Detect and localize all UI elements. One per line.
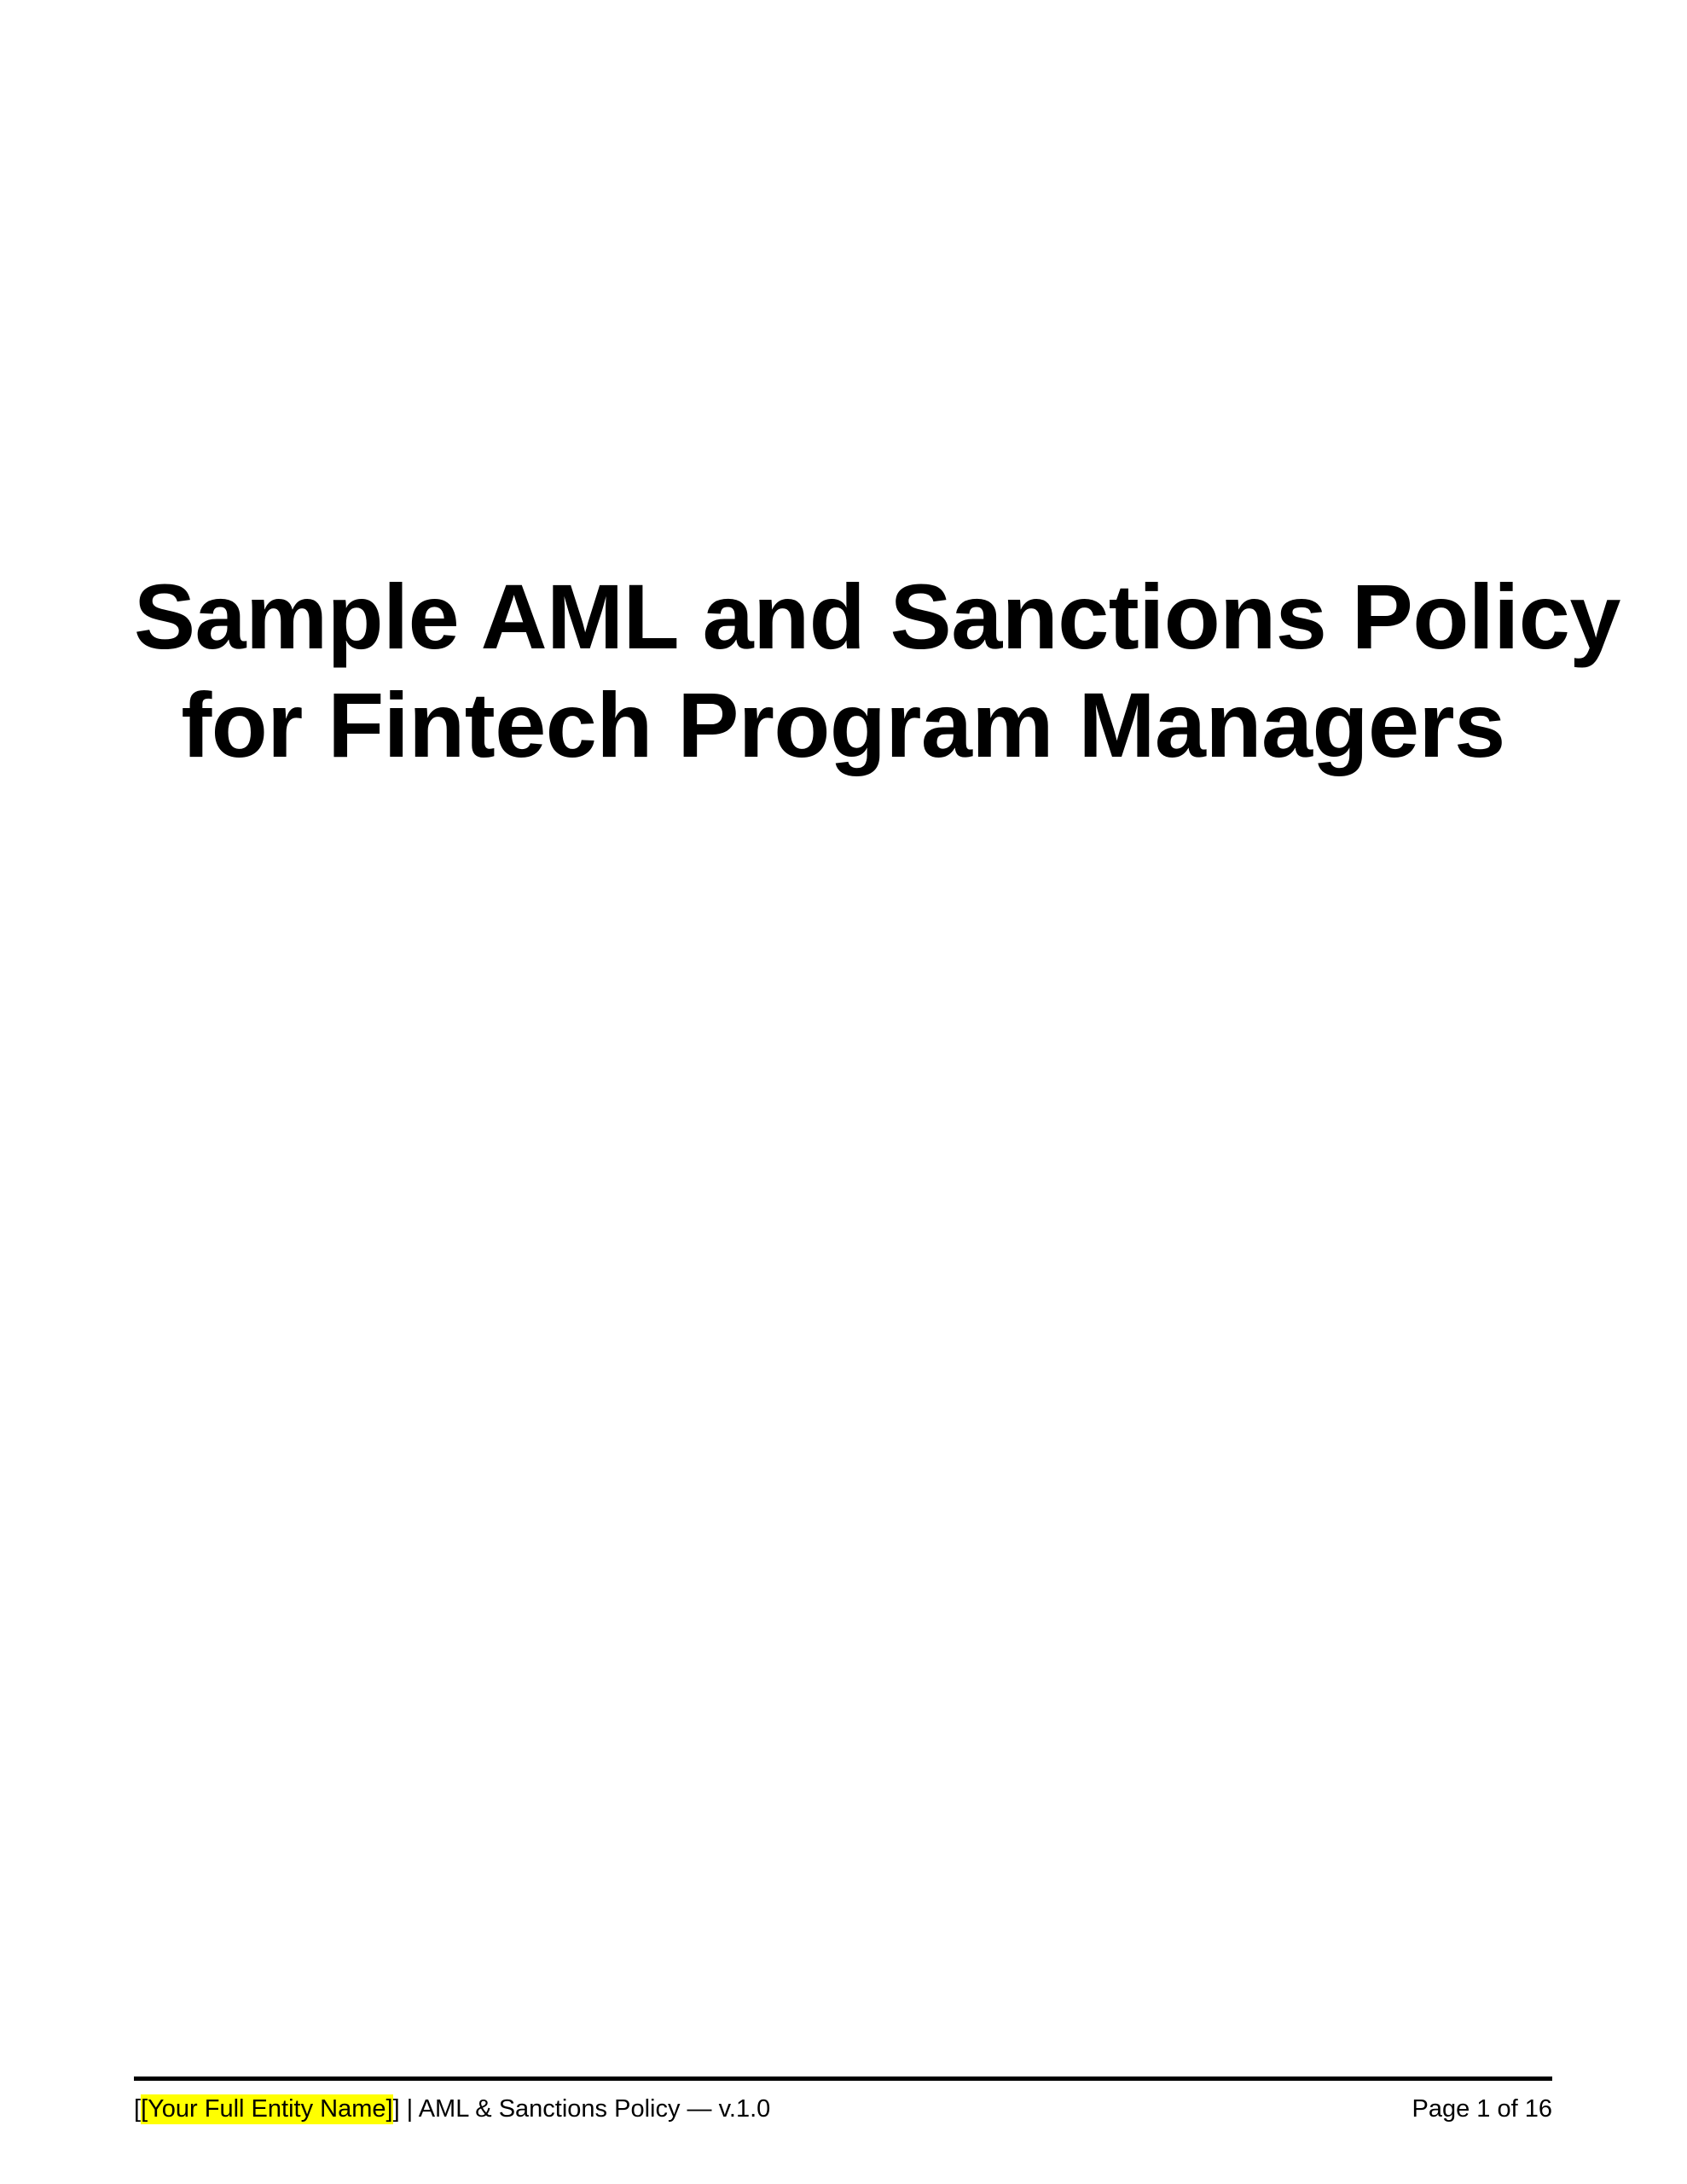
document-body-area xyxy=(134,819,1552,1774)
page-title-line-2: for Fintech Program Managers xyxy=(134,671,1552,778)
entity-name-placeholder: [Your Full Entity Name] xyxy=(141,2094,393,2124)
footer-divider xyxy=(134,2077,1552,2081)
document-page: Sample AML and Sanctions Policy for Fint… xyxy=(0,0,1687,2184)
footer-policy-name: AML & Sanctions Policy — v.1.0 xyxy=(419,2095,771,2123)
entity-close-bracket: ] xyxy=(393,2095,400,2123)
page-title-line-1: Sample AML and Sanctions Policy xyxy=(134,563,1552,670)
footer-left-text: [[Your Full Entity Name]] | AML & Sancti… xyxy=(134,2093,770,2126)
page-footer: [[Your Full Entity Name]] | AML & Sancti… xyxy=(134,2077,1552,2126)
footer-row: [[Your Full Entity Name]] | AML & Sancti… xyxy=(134,2093,1552,2126)
entity-open-bracket: [ xyxy=(134,2095,141,2123)
footer-page-indicator: Page 1 of 16 xyxy=(1412,2093,1552,2126)
footer-separator: | xyxy=(400,2095,419,2123)
title-block: Sample AML and Sanctions Policy for Fint… xyxy=(134,563,1552,779)
